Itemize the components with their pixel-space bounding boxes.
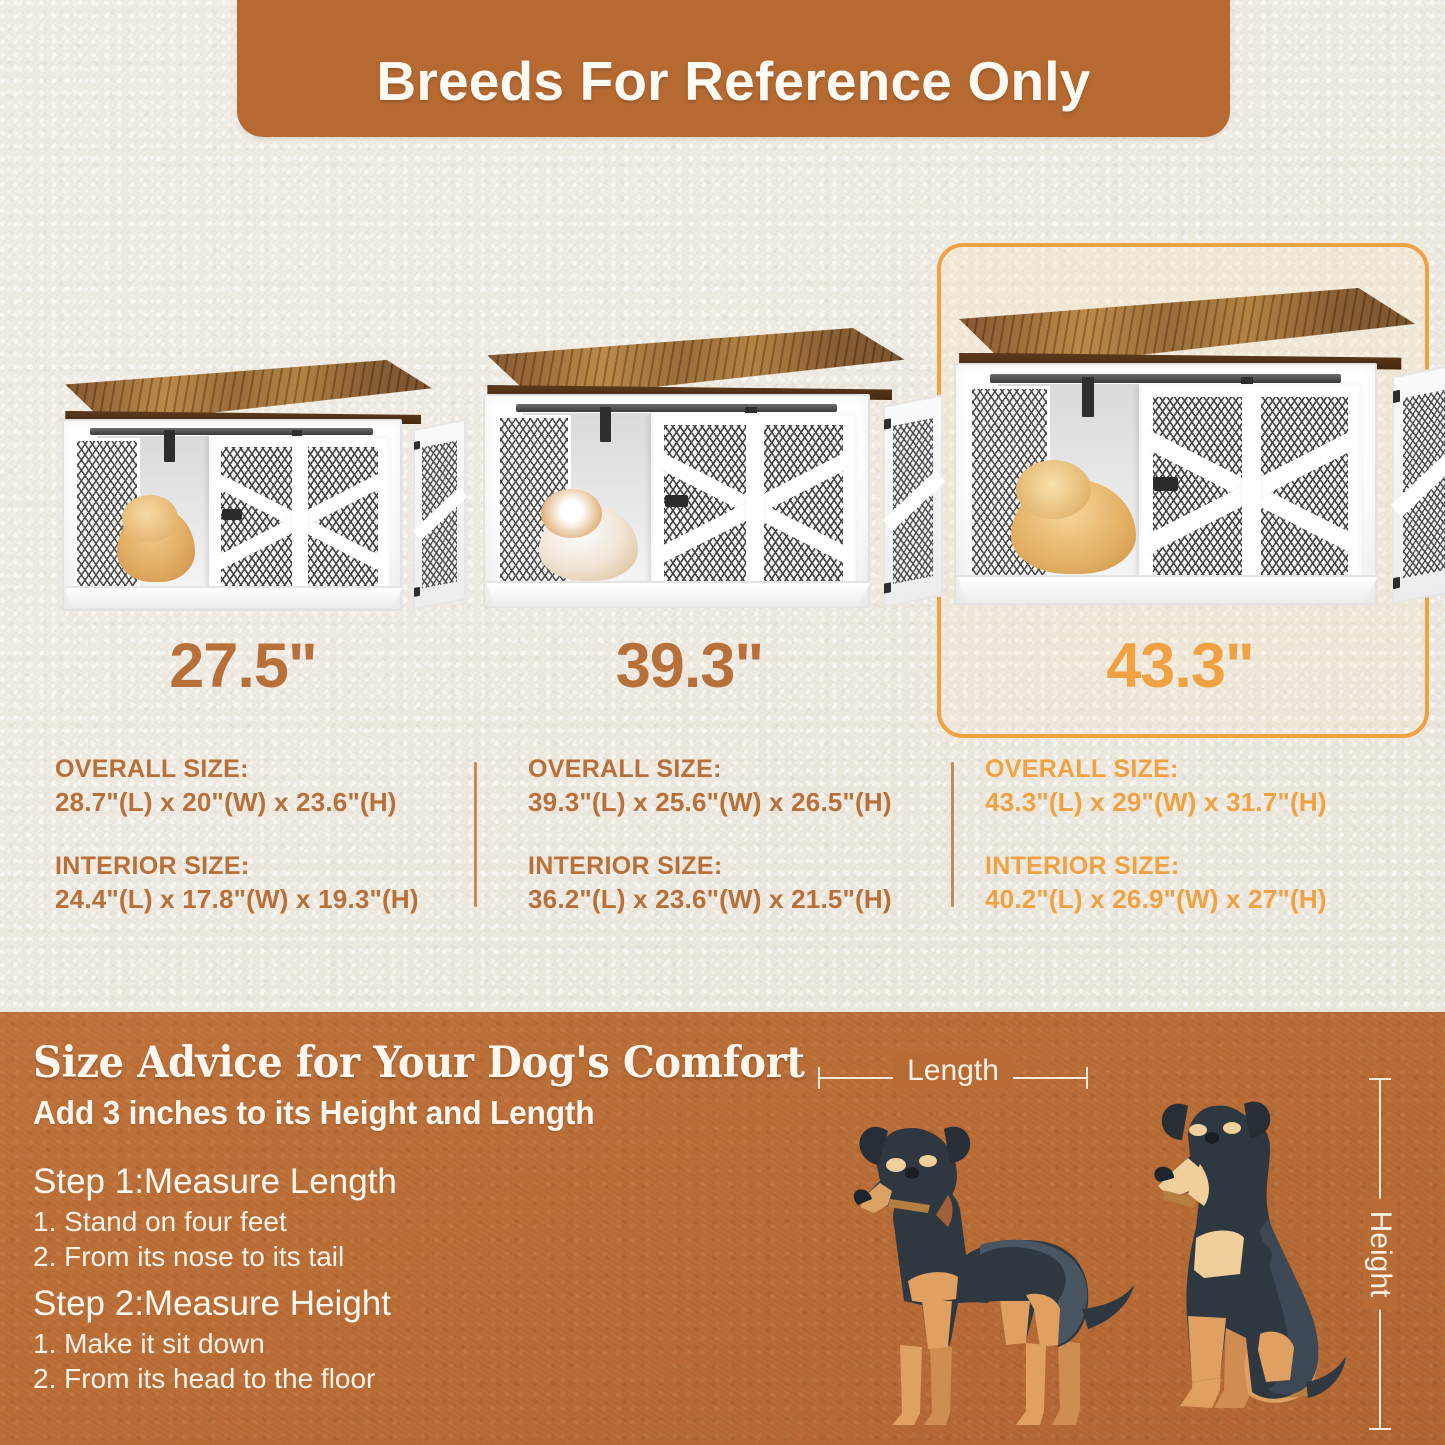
hinge-icon	[414, 441, 420, 451]
rail-hanger-icon	[164, 430, 174, 462]
crate-plinth	[64, 586, 404, 611]
page-title: Breeds For Reference Only	[376, 49, 1090, 137]
rail-hanger-icon	[600, 407, 611, 443]
slide-rail	[516, 404, 837, 411]
crate-body	[62, 419, 402, 611]
door-latch-icon	[1153, 477, 1178, 491]
slide-rail	[90, 428, 373, 435]
spec-block-small: OVERALL SIZE: 28.7"(L) x 20"(W) x 23.6"(…	[55, 755, 475, 949]
interior-size-values: 40.2"(L) x 26.9"(W) x 27"(H)	[985, 884, 1415, 915]
size-label-small: 27.5"	[28, 630, 458, 702]
standing-dog-illustration	[830, 1095, 1150, 1435]
spec-block-medium: OVERALL SIZE: 39.3"(L) x 25.6"(W) x 26.5…	[528, 755, 948, 949]
overall-size-values: 39.3"(L) x 25.6"(W) x 26.5"(H)	[528, 787, 948, 818]
spec-block-large: OVERALL SIZE: 43.3"(L) x 29"(W) x 31.7"(…	[985, 755, 1415, 949]
step1-line1: 1. Stand on four feet	[33, 1206, 397, 1238]
height-measure-guide: Height	[1362, 1078, 1398, 1430]
door-latch-icon	[222, 509, 242, 520]
hinge-icon	[414, 588, 420, 598]
overall-size-heading: OVERALL SIZE:	[528, 755, 948, 784]
crate-body	[954, 363, 1376, 605]
crate-illustration-small	[54, 360, 432, 628]
overall-size-heading: OVERALL SIZE:	[55, 755, 475, 784]
overall-size-heading: OVERALL SIZE:	[985, 755, 1415, 784]
interior-size-heading: INTERIOR SIZE:	[55, 852, 475, 881]
hinge-icon	[884, 583, 891, 594]
spec-divider	[951, 762, 954, 907]
height-cap-top	[1369, 1078, 1391, 1080]
height-cap-bottom	[1369, 1428, 1391, 1430]
overall-size-values: 43.3"(L) x 29"(W) x 31.7"(H)	[985, 787, 1415, 818]
door-latch-icon	[665, 495, 688, 508]
crate-illustration-medium	[475, 328, 905, 628]
crate-plinth	[485, 581, 872, 608]
crate-illustration-large	[945, 288, 1415, 628]
size-label-large: 43.3"	[940, 630, 1420, 702]
crate-body	[483, 394, 870, 608]
interior-size-values: 24.4"(L) x 17.8"(W) x 19.3"(H)	[55, 884, 475, 915]
step1-line2: 2. From its nose to its tail	[33, 1241, 397, 1273]
step2-line2: 2. From its head to the floor	[33, 1363, 391, 1395]
crate-cell-large	[940, 230, 1420, 650]
height-label: Height	[1363, 1199, 1397, 1310]
interior-size-values: 36.2"(L) x 23.6"(W) x 21.5"(H)	[528, 884, 948, 915]
overall-size-values: 28.7"(L) x 20"(W) x 23.6"(H)	[55, 787, 475, 818]
step1-heading: Step 1:Measure Length	[33, 1162, 397, 1202]
advice-step-2: Step 2:Measure Height 1. Make it sit dow…	[33, 1284, 391, 1398]
step2-line1: 1. Make it sit down	[33, 1328, 391, 1360]
slide-rail	[990, 374, 1341, 382]
step2-heading: Step 2:Measure Height	[33, 1284, 391, 1324]
crate-side-panel	[883, 394, 943, 608]
rail-hanger-icon	[1082, 377, 1095, 417]
crate-row	[0, 230, 1445, 650]
interior-size-heading: INTERIOR SIZE:	[528, 852, 948, 881]
crate-side-panel	[1392, 363, 1445, 604]
length-cap-right	[1086, 1067, 1088, 1089]
sitting-dog-illustration	[1140, 1078, 1360, 1436]
length-label: Length	[893, 1054, 1013, 1088]
length-cap-left	[818, 1067, 820, 1089]
crate-cell-small	[28, 230, 458, 650]
length-measure-guide: Length	[818, 1060, 1088, 1096]
crate-plinth	[956, 575, 1378, 605]
crate-side-panel	[413, 419, 466, 610]
advice-title: Size Advice for Your Dog's Comfort	[33, 1038, 805, 1088]
spec-divider	[474, 762, 477, 907]
header-banner: Breeds For Reference Only	[237, 0, 1230, 137]
size-label-medium: 39.3"	[462, 630, 917, 702]
interior-size-heading: INTERIOR SIZE:	[985, 852, 1415, 881]
infographic-page: Breeds For Reference Only	[0, 0, 1445, 1445]
crate-cell-medium	[462, 230, 917, 650]
hinge-icon	[1393, 576, 1400, 589]
hinge-icon	[1393, 390, 1400, 403]
advice-step-1: Step 1:Measure Length 1. Stand on four f…	[33, 1162, 397, 1276]
hinge-icon	[884, 418, 891, 429]
advice-subtitle: Add 3 inches to its Height and Length	[33, 1094, 594, 1132]
